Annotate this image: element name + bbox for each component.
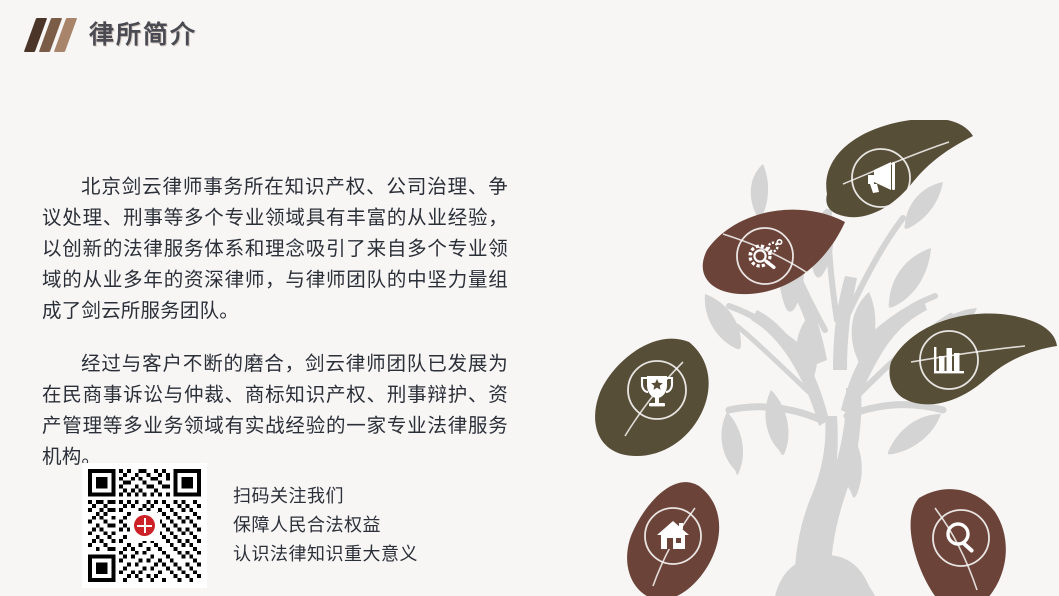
intro-paragraph-2: 经过与客户不断的磨合，剑云律师团队已发展为在民商事诉讼与仲裁、商标知识产权、刑事… bbox=[42, 349, 508, 473]
leaf-bar-chart bbox=[890, 313, 1058, 404]
leaf-trophy bbox=[595, 339, 709, 456]
page-title: 律所简介 bbox=[89, 23, 197, 48]
firm-emblem-icon bbox=[134, 515, 155, 536]
magnifier-icon bbox=[948, 524, 974, 553]
slide-root: 律所简介 北京剑云律师事务所在知识产权、公司治理、争议处理、刑事等多个专业领域具… bbox=[0, 0, 1059, 596]
house-icon bbox=[657, 521, 689, 549]
qr-code[interactable] bbox=[82, 463, 207, 588]
leaf-magnifier-gear bbox=[703, 210, 845, 294]
accent-slashes bbox=[30, 18, 71, 52]
bar-chart-icon bbox=[934, 347, 964, 373]
leaf-house bbox=[627, 482, 719, 596]
page-header: 律所简介 bbox=[30, 18, 197, 52]
trophy-icon bbox=[642, 376, 672, 406]
qr-caption-block: 扫码关注我们 保障人民合法权益 认识法律知识重大意义 bbox=[233, 483, 418, 568]
magnifier-gear-icon bbox=[750, 240, 782, 270]
intro-text-block: 北京剑云律师事务所在知识产权、公司治理、争议处理、刑事等多个专业领域具有丰富的从… bbox=[42, 172, 508, 473]
intro-paragraph-1: 北京剑云律师事务所在知识产权、公司治理、争议处理、刑事等多个专业领域具有丰富的从… bbox=[42, 172, 508, 327]
qr-caption-line-3: 认识法律知识重大意义 bbox=[233, 541, 418, 568]
megaphone-icon bbox=[868, 162, 895, 193]
leaf-megaphone bbox=[826, 120, 973, 217]
qr-caption-line-2: 保障人民合法权益 bbox=[233, 512, 418, 539]
qr-caption-line-1: 扫码关注我们 bbox=[233, 483, 418, 510]
leaf-magnifier bbox=[911, 489, 1006, 596]
tree-trunk-group bbox=[705, 164, 977, 596]
qr-center-logo bbox=[130, 511, 160, 541]
tree-illustration bbox=[589, 120, 1059, 596]
qr-section: 扫码关注我们 保障人民合法权益 认识法律知识重大意义 bbox=[82, 463, 418, 588]
